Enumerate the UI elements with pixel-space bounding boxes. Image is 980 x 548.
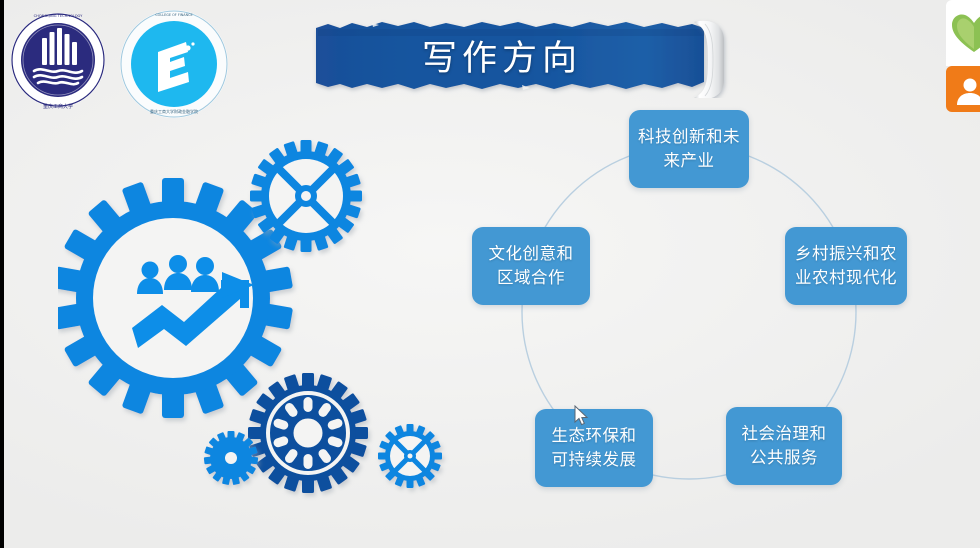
- dark-ring-gear: [248, 373, 368, 493]
- cycle-node-label: 生态环保和可持续发展: [544, 424, 644, 472]
- cycle-node-culture[interactable]: 文化创意和区域合作: [472, 227, 590, 305]
- university-logo: CHONGQING TECHNOLOGY 重庆工商大学: [8, 8, 108, 116]
- contact-button[interactable]: [946, 66, 980, 112]
- floating-action-buttons: [946, 0, 980, 115]
- cycle-node-eco[interactable]: 生态环保和可持续发展: [535, 409, 653, 487]
- college-logo: COLLEGE OF FINANCE 重庆工商大学财政金融学院: [118, 8, 230, 120]
- cycle-node-tech[interactable]: 科技创新和未来产业: [629, 110, 749, 188]
- cycle-node-label: 科技创新和未来产业: [638, 125, 740, 173]
- heart-icon: [948, 8, 980, 60]
- contact-icon: [954, 74, 980, 106]
- gears-illustration: [58, 138, 468, 503]
- cycle-node-rural[interactable]: 乡村振兴和农业农村现代化: [785, 227, 907, 305]
- cycle-node-label: 文化创意和区域合作: [481, 242, 581, 290]
- svg-text:重庆工商大学: 重庆工商大学: [43, 103, 73, 110]
- svg-text:COLLEGE OF FINANCE: COLLEGE OF FINANCE: [155, 13, 192, 17]
- title-banner: [312, 14, 730, 98]
- presentation-slide: CHONGQING TECHNOLOGY 重庆工商大学 COLLEGE OF F…: [0, 0, 980, 548]
- small-spoke-gear: [378, 424, 442, 488]
- cycle-diagram: 科技创新和未来产业 乡村振兴和农业农村现代化 社会治理和公共服务 生态环保和可持…: [455, 100, 925, 520]
- slide-left-border: [0, 0, 4, 548]
- small-gear: [204, 431, 258, 485]
- cycle-node-social[interactable]: 社会治理和公共服务: [726, 407, 842, 485]
- svg-text:重庆工商大学财政金融学院: 重庆工商大学财政金融学院: [150, 108, 198, 114]
- cycle-node-label: 乡村振兴和农业农村现代化: [794, 242, 898, 290]
- svg-text:CHONGQING TECHNOLOGY: CHONGQING TECHNOLOGY: [34, 14, 84, 18]
- cycle-node-label: 社会治理和公共服务: [735, 422, 833, 470]
- heart-button[interactable]: [946, 0, 980, 66]
